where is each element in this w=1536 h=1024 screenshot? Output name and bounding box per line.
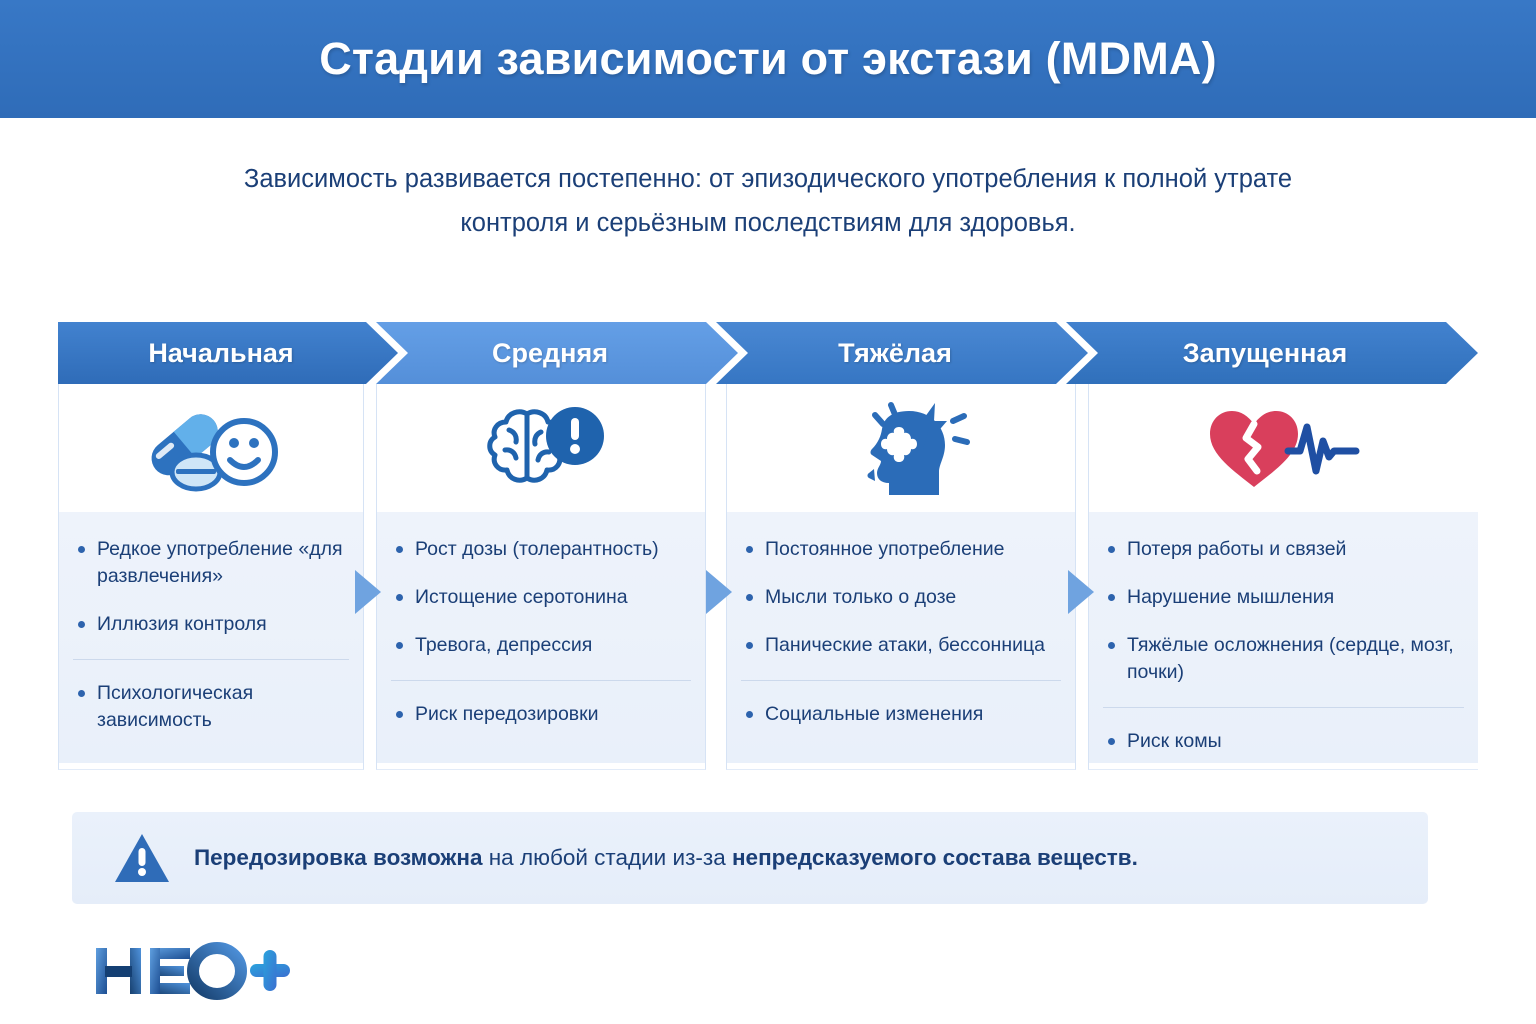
stage-card-3[interactable]: Постоянное употребление Мысли только о д… <box>726 384 1076 770</box>
list-item: Постоянное употребление <box>741 536 1061 563</box>
warning-banner: Передозировка возможна на любой стадии и… <box>72 812 1428 904</box>
stage-label-2: Средняя <box>376 338 738 369</box>
stage-chevron-2[interactable]: Средняя <box>376 322 738 384</box>
list-item: Риск комы <box>1103 707 1464 755</box>
pills-smiley-icon <box>136 400 286 496</box>
stage-card-1[interactable]: Редкое употребление «для развлечения» Ил… <box>58 384 364 770</box>
neo-plus-logo[interactable] <box>92 938 292 1000</box>
stage-chevron-1[interactable]: Начальная <box>58 322 398 384</box>
list-item: Мысли только о дозе <box>741 584 1061 611</box>
page-header: Стадии зависимости от экстази (MDMA) <box>0 0 1536 118</box>
stage-icon-3-box <box>727 384 1075 512</box>
page-subtitle: Зависимость развивается постепенно: от э… <box>168 158 1368 246</box>
list-item: Тревога, депрессия <box>391 632 691 659</box>
list-item: Нарушение мышления <box>1103 584 1464 611</box>
stage-card-2[interactable]: Рост дозы (толерантность) Истощение серо… <box>376 384 706 770</box>
logo-letter-e <box>150 948 190 994</box>
list-item: Тяжёлые осложнения (сердце, мозг, почки) <box>1103 632 1464 686</box>
list-item: Иллюзия контроля <box>73 611 349 638</box>
stage-label-4: Запущенная <box>1066 338 1478 369</box>
stage-bullets-2: Рост дозы (толерантность) Истощение серо… <box>377 512 705 763</box>
subtitle-line-2: контроля и серьёзным последствиям для зд… <box>168 202 1368 246</box>
logo-plus-icon <box>250 950 290 991</box>
stage-bullets-1: Редкое употребление «для развлечения» Ил… <box>59 512 363 763</box>
stages-section: Начальная Средняя Тяжёлая Запущенная <box>58 322 1478 770</box>
stage-chevron-4[interactable]: Запущенная <box>1066 322 1478 384</box>
stage-card-4[interactable]: Потеря работы и связей Нарушение мышлени… <box>1088 384 1478 770</box>
list-item: Психологическая зависимость <box>73 659 349 734</box>
list-item: Рост дозы (толерантность) <box>391 536 691 563</box>
warning-triangle-icon <box>114 832 170 884</box>
stage-header-row: Начальная Средняя Тяжёлая Запущенная <box>58 322 1478 384</box>
brain-alert-icon <box>471 400 611 496</box>
list-item: Панические атаки, бессонница <box>741 632 1061 659</box>
list-item: Социальные изменения <box>741 680 1061 728</box>
list-item: Риск передозировки <box>391 680 691 728</box>
subtitle-line-1: Зависимость развивается постепенно: от э… <box>168 158 1368 202</box>
list-item: Редкое употребление «для развлечения» <box>73 536 349 590</box>
page-title: Стадии зависимости от экстази (MDMA) <box>319 33 1217 85</box>
stage-label-3: Тяжёлая <box>716 338 1088 369</box>
stage-bullets-4: Потеря работы и связей Нарушение мышлени… <box>1089 512 1478 763</box>
warning-bold-end: непредсказуемого состава веществ. <box>732 845 1138 870</box>
broken-heart-ecg-icon <box>1204 403 1364 493</box>
stage-icon-4-box <box>1089 384 1478 512</box>
warning-regular-middle: на любой стадии из-за <box>483 845 732 870</box>
warning-bold-start: Передозировка возможна <box>194 845 483 870</box>
logo-letter-o <box>193 948 241 994</box>
stage-icon-2-box <box>377 384 705 512</box>
list-item: Истощение серотонина <box>391 584 691 611</box>
list-item: Потеря работы и связей <box>1103 536 1464 563</box>
logo-letter-n <box>96 948 141 994</box>
stage-chevron-3[interactable]: Тяжёлая <box>716 322 1088 384</box>
head-puzzle-lightning-icon <box>831 399 971 497</box>
warning-text: Передозировка возможна на любой стадии и… <box>194 845 1138 871</box>
stage-label-1: Начальная <box>58 338 398 369</box>
stage-icon-1-box <box>59 384 363 512</box>
stage-bullets-3: Постоянное употребление Мысли только о д… <box>727 512 1075 763</box>
